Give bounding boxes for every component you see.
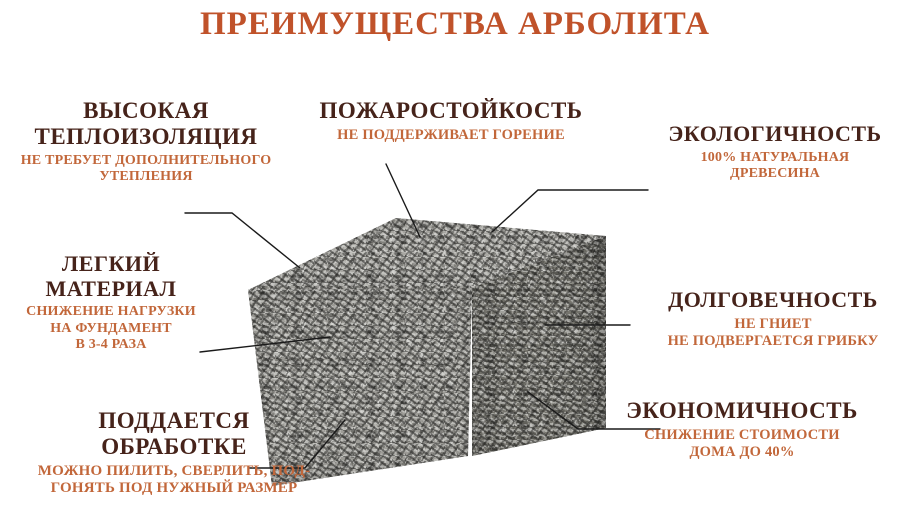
feature-durability: ДОЛГОВЕЧНОСТЬ НЕ ГНИЕТ НЕ ПОДВЕРГАЕТСЯ Г… — [636, 288, 910, 350]
feature-thermal-insulation: ВЫСОКАЯ ТЕПЛОИЗОЛЯЦИЯ НЕ ТРЕБУЕТ ДОПОЛНИ… — [0, 98, 292, 186]
feature-subtext: НЕ ТРЕБУЕТ ДОПОЛНИТЕЛЬНОГО УТЕПЛЕНИЯ — [0, 153, 292, 186]
feature-subtext: МОЖНО ПИЛИТЬ, СВЕРЛИТЬ, ПОД- ГОНЯТЬ ПОД … — [14, 463, 334, 498]
feature-fire-resistance: ПОЖАРОСТОЙКОСТЬ НЕ ПОДДЕРЖИВАЕТ ГОРЕНИЕ — [296, 98, 606, 144]
page-title: ПРЕИМУЩЕСТВА АРБОЛИТА — [0, 6, 910, 43]
feature-heading: ВЫСОКАЯ ТЕПЛОИЗОЛЯЦИЯ — [0, 98, 292, 150]
feature-subtext: НЕ ПОДДЕРЖИВАЕТ ГОРЕНИЕ — [296, 127, 606, 144]
infographic-canvas: ПРЕИМУЩЕСТВА АРБОЛИТА ВЫСОКАЯ ТЕПЛОИЗОЛЯ… — [0, 0, 910, 524]
feature-eco-friendly: ЭКОЛОГИЧНОСТЬ 100% НАТУРАЛЬНАЯ ДРЕВЕСИНА — [640, 122, 910, 183]
feature-light-material: ЛЕГКИЙ МАТЕРИАЛ СНИЖЕНИЕ НАГРУЗКИ НА ФУН… — [0, 252, 222, 354]
feature-heading: ЭКОНОМИЧНОСТЬ — [592, 398, 892, 424]
feature-heading: ПОДДАЕТСЯ ОБРАБОТКЕ — [14, 408, 334, 460]
feature-subtext: СНИЖЕНИЕ СТОИМОСТИ ДОМА ДО 40% — [592, 427, 892, 461]
feature-subtext: НЕ ГНИЕТ НЕ ПОДВЕРГАЕТСЯ ГРИБКУ — [636, 316, 910, 350]
feature-subtext: СНИЖЕНИЕ НАГРУЗКИ НА ФУНДАМЕНТ В 3-4 РАЗ… — [0, 304, 222, 354]
feature-heading: ДОЛГОВЕЧНОСТЬ — [636, 288, 910, 313]
feature-economy: ЭКОНОМИЧНОСТЬ СНИЖЕНИЕ СТОИМОСТИ ДОМА ДО… — [592, 398, 892, 461]
feature-heading: ЭКОЛОГИЧНОСТЬ — [640, 122, 910, 147]
feature-workability: ПОДДАЕТСЯ ОБРАБОТКЕ МОЖНО ПИЛИТЬ, СВЕРЛИ… — [14, 408, 334, 498]
feature-heading: ПОЖАРОСТОЙКОСТЬ — [296, 98, 606, 124]
feature-heading: ЛЕГКИЙ МАТЕРИАЛ — [0, 252, 222, 301]
feature-subtext: 100% НАТУРАЛЬНАЯ ДРЕВЕСИНА — [640, 150, 910, 183]
